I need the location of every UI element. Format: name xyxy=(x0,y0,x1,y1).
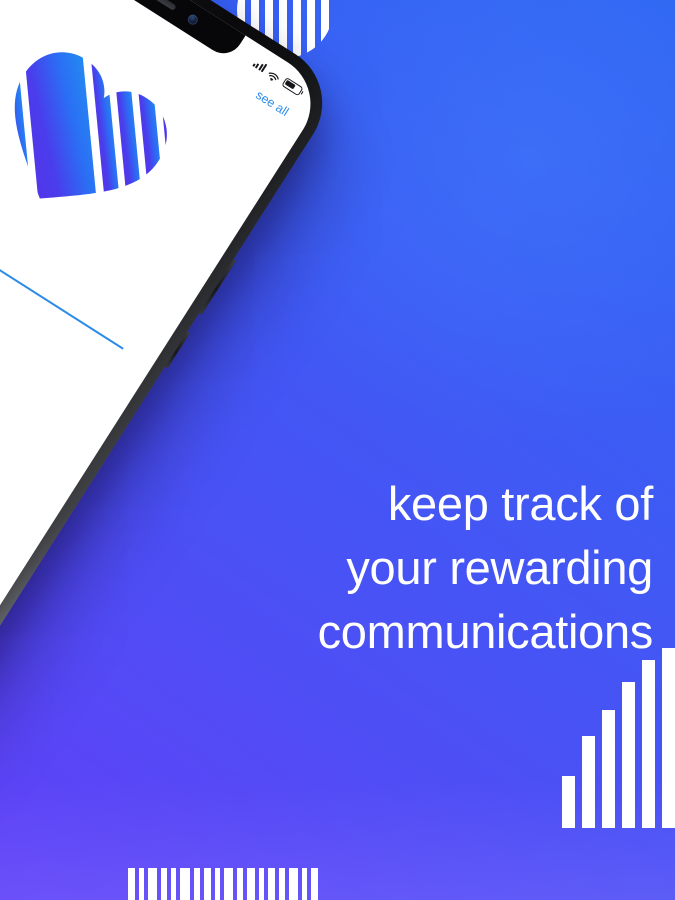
staircase-bar xyxy=(582,736,595,828)
barcode-bar xyxy=(289,868,298,900)
barcode-bar xyxy=(268,868,275,900)
barcode-bar xyxy=(279,868,285,900)
striped-heart-logo xyxy=(0,23,196,253)
barcode-strip-decoration xyxy=(128,854,324,900)
headline-line-2: your rewarding xyxy=(0,536,653,600)
barcode-bar xyxy=(259,868,264,900)
staircase-bar xyxy=(602,710,615,828)
barcode-bar xyxy=(161,868,167,900)
staircase-bar xyxy=(622,682,635,828)
barcode-bar xyxy=(148,868,157,900)
barcode-bar xyxy=(139,868,144,900)
barcode-bar xyxy=(180,868,190,900)
barcode-bar xyxy=(128,868,135,900)
battery-icon xyxy=(282,77,304,96)
headline: keep track of your rewarding communicati… xyxy=(0,472,653,664)
barcode-bar xyxy=(204,868,211,900)
headline-line-3: communications xyxy=(0,600,653,664)
barcode-bar xyxy=(171,868,176,900)
signal-icon xyxy=(252,58,267,72)
phone-notch xyxy=(84,0,246,61)
barcode-bar xyxy=(224,868,233,900)
barcode-bar xyxy=(247,868,255,900)
barcode-bar xyxy=(237,868,243,900)
staircase-bar xyxy=(642,660,655,828)
staircase-bar xyxy=(562,776,575,828)
wifi-icon xyxy=(266,67,282,82)
barcode-bar xyxy=(311,868,318,900)
staircase-bar xyxy=(662,648,675,828)
earpiece-speaker-icon xyxy=(132,0,177,10)
battery-fill xyxy=(285,80,296,90)
barcode-bar xyxy=(215,868,220,900)
barcode-bar xyxy=(302,868,307,900)
front-camera-icon xyxy=(186,12,200,26)
promo-banner: 12:37 xyxy=(0,0,675,900)
staircase-bars-decoration xyxy=(555,648,675,828)
headline-line-1: keep track of xyxy=(0,472,653,536)
barcode-bar xyxy=(194,868,200,900)
